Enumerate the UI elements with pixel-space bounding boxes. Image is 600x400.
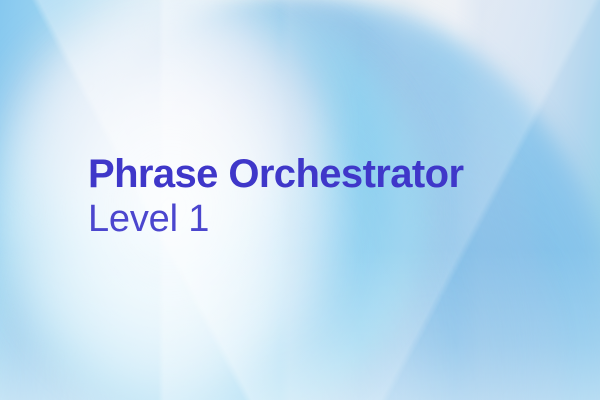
banner-subtitle: Level 1 <box>88 198 463 240</box>
banner-title: Phrase Orchestrator <box>88 152 463 196</box>
course-banner: Phrase Orchestrator Level 1 <box>0 0 600 400</box>
banner-text-block: Phrase Orchestrator Level 1 <box>88 152 463 240</box>
